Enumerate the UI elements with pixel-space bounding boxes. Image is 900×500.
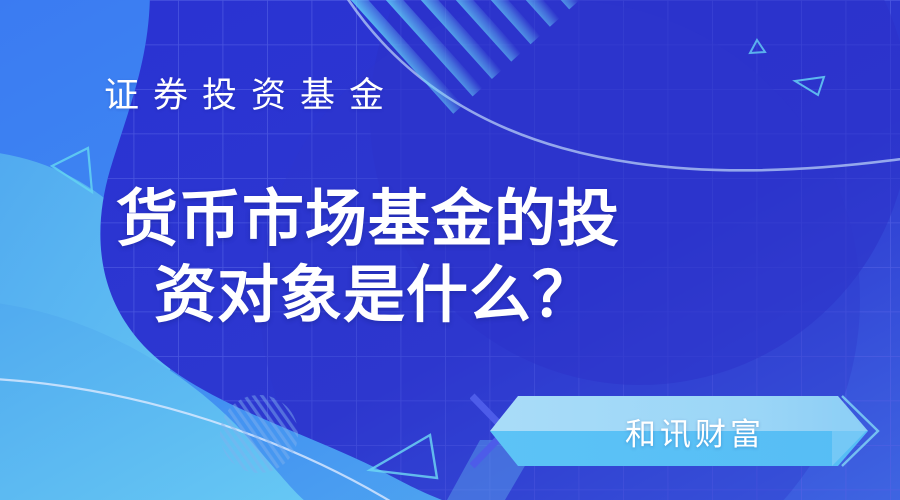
poster-subtitle: 证券投资基金 — [104, 76, 398, 116]
banner-right-tip — [832, 396, 866, 466]
banner-bottom-half — [490, 431, 868, 466]
banner-top-half — [490, 396, 868, 431]
poster-canvas: 证券投资基金 货币市场基金的投 资对象是什么？ — [0, 0, 900, 500]
headline-line-1: 货币市场基金的投 — [116, 185, 620, 254]
banner-shape — [470, 388, 900, 474]
headline-line-2: 资对象是什么？ — [116, 258, 756, 334]
poster-headline: 货币市场基金的投 资对象是什么？ — [116, 182, 756, 333]
hatched-circle — [220, 395, 298, 473]
brand-banner: 和讯财富 — [470, 388, 900, 474]
